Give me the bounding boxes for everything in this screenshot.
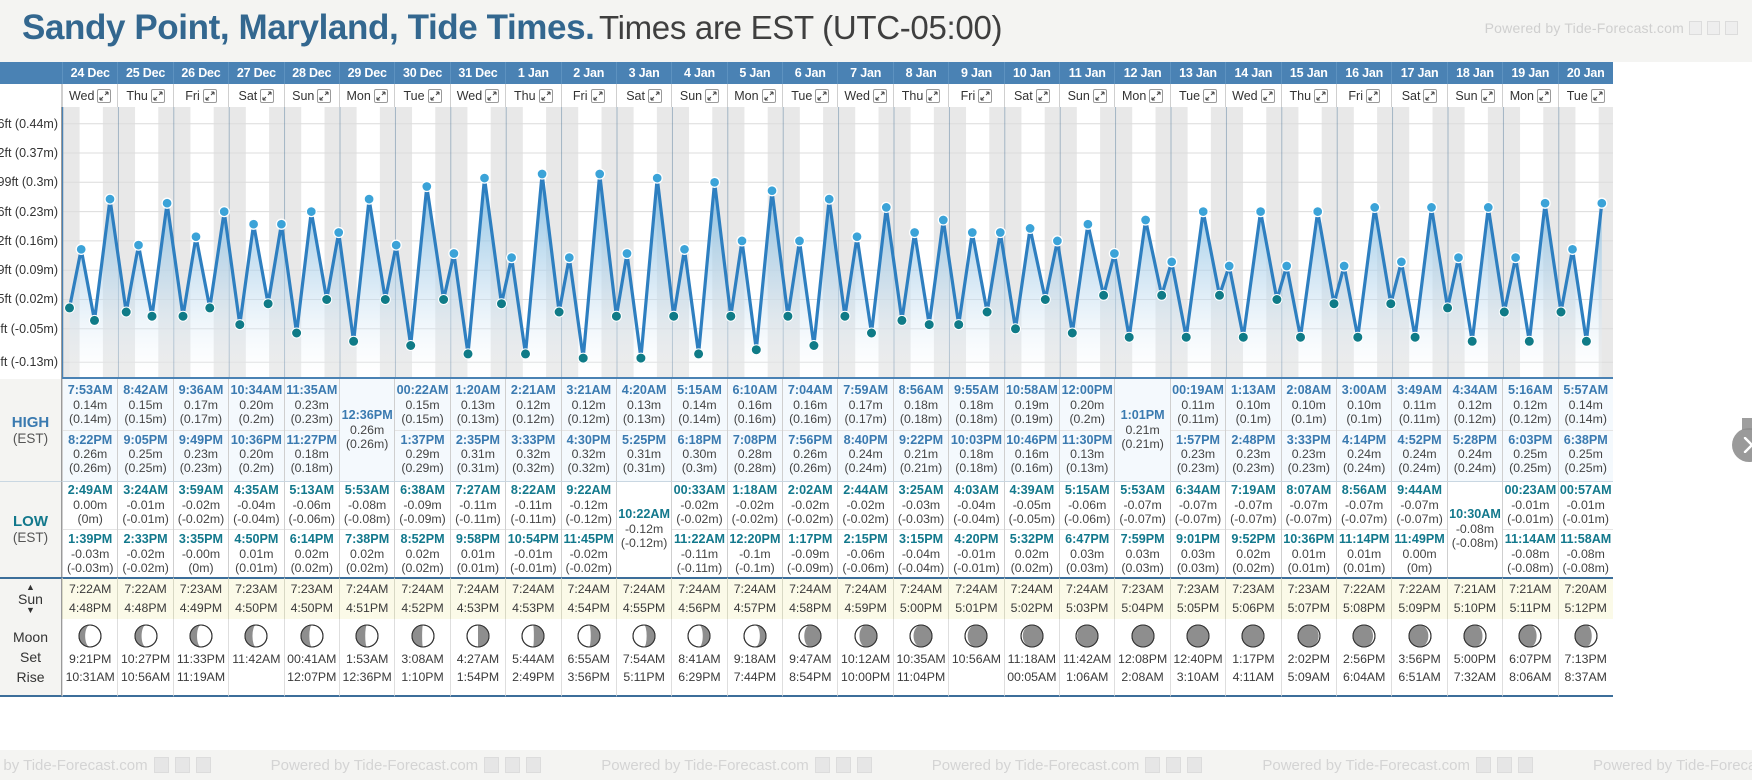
- tide-event: 4:50PM0.01m(0.01m): [229, 529, 283, 578]
- date-header[interactable]: 7 Jan: [837, 62, 892, 84]
- tide-time: 1:20AM: [451, 383, 505, 398]
- tide-height-alt: (0.18m): [894, 412, 948, 426]
- sunset-time: 5:07PM: [1288, 599, 1330, 618]
- y-axis-tick-label: 0.76ft (0.23m): [0, 205, 58, 219]
- sunset-time: 4:51PM: [346, 599, 388, 618]
- tide-height-alt: (-0.03m): [894, 512, 948, 526]
- tide-time: 5:13AM: [285, 483, 339, 498]
- moon-times: 9:47AM8:54PM: [789, 651, 831, 687]
- sunrise-time: 7:24AM: [789, 580, 831, 599]
- tide-height-alt: (-0.04m): [949, 512, 1003, 526]
- sunset-time: 4:52PM: [401, 599, 443, 618]
- expand-day-button[interactable]: [1261, 89, 1275, 103]
- moon-cell: 11:18AM00:05AM: [1004, 619, 1059, 697]
- tide-time: 4:50PM: [229, 532, 283, 547]
- tide-height: 0.00m: [63, 498, 117, 512]
- tide-height: -0.11m: [506, 498, 560, 512]
- expand-day-button[interactable]: [260, 89, 274, 103]
- tide-event: 7:59AM0.17m(0.17m): [838, 381, 892, 429]
- moonrise-time: 10:00PM: [841, 669, 890, 687]
- tide-time: 11:45PM: [562, 532, 616, 547]
- tide-event: 1:57PM0.23m(0.23m): [1171, 430, 1225, 479]
- weekday-label: Thu: [514, 89, 536, 103]
- tide-height-alt: (-0.09m): [395, 512, 449, 526]
- date-header[interactable]: 3 Jan: [616, 62, 671, 84]
- tide-height: 0.31m: [617, 447, 671, 461]
- tide-height: 0.23m: [174, 447, 228, 461]
- low-tide-cell: 6:38AM-0.09m(-0.09m)8:52PM0.02m(0.02m): [394, 481, 449, 577]
- moon-cell: 11:42AM1:06AM: [1059, 619, 1114, 697]
- tide-height: -0.03m: [894, 498, 948, 512]
- tide-time: 00:33AM: [672, 483, 726, 498]
- tide-event: 5:32PM0.02m(0.02m): [1005, 529, 1059, 578]
- sunrise-time: 7:24AM: [678, 580, 720, 599]
- sunrise-time: 7:24AM: [1011, 580, 1053, 599]
- tide-time: 00:22AM: [395, 383, 449, 398]
- tide-height: -0.01m: [506, 547, 560, 561]
- next-week-button[interactable]: [1732, 428, 1752, 462]
- y-axis-tick-label: 0.99ft (0.3m): [0, 175, 58, 189]
- moon-times: 6:55AM3:56PM: [568, 651, 610, 687]
- tide-height-alt: (-0.02m): [728, 512, 782, 526]
- tide-event: 7:08PM0.28m(0.28m): [728, 430, 782, 479]
- moonrise-time: 12:36PM: [343, 669, 392, 687]
- tide-event: 3:21AM0.12m(0.12m): [562, 381, 616, 429]
- expand-day-button[interactable]: [978, 89, 992, 103]
- date-header[interactable]: 15 Jan: [1281, 62, 1336, 84]
- tide-height: 0.24m: [1337, 447, 1391, 461]
- tide-time: 7:53AM: [63, 383, 117, 398]
- expand-day-button[interactable]: [1423, 89, 1437, 103]
- tide-height-alt: (-0.04m): [229, 512, 283, 526]
- low-label: LOW: [13, 513, 48, 530]
- tide-time: 3:49AM: [1392, 383, 1446, 398]
- tide-event: 7:19AM-0.07m(-0.07m): [1226, 481, 1280, 529]
- sunrise-time: 7:21AM: [1509, 580, 1551, 599]
- expand-day-button[interactable]: [815, 89, 829, 103]
- weekday-cell: Mon: [1502, 84, 1557, 107]
- date-header[interactable]: 1 Jan: [505, 62, 560, 84]
- tide-height: -0.04m: [229, 498, 283, 512]
- sunrise-time: 7:24AM: [900, 580, 942, 599]
- tide-event: 5:57AM0.14m(0.14m): [1559, 381, 1613, 429]
- high-tide-cell: 00:22AM0.15m(0.15m)1:37PM0.29m(0.29m): [394, 379, 449, 481]
- tide-height: 0.13m: [1060, 447, 1114, 461]
- tide-event: 6:34AM-0.07m(-0.07m): [1171, 481, 1225, 529]
- tide-height: 0.23m: [285, 398, 339, 412]
- date-header-label: 13 Jan: [1179, 66, 1217, 80]
- tide-time: 2:21AM: [506, 383, 560, 398]
- tide-height-alt: (0.18m): [285, 461, 339, 475]
- date-header[interactable]: 10 Jan: [1004, 62, 1059, 84]
- expand-day-button[interactable]: [762, 89, 776, 103]
- high-tide-cell: 1:20AM0.13m(0.13m)2:35PM0.31m(0.31m): [450, 379, 505, 481]
- tide-height-alt: (0m): [1392, 561, 1446, 575]
- tide-height: 0.11m: [1392, 398, 1446, 412]
- tide-height-alt: (-0.09m): [783, 561, 837, 575]
- expand-day-button[interactable]: [1203, 89, 1217, 103]
- tide-time: 3:33PM: [506, 433, 560, 448]
- low-tide-cell: 5:15AM-0.06m(-0.06m)6:47PM0.03m(0.03m): [1059, 481, 1114, 577]
- tide-height: -0.06m: [838, 547, 892, 561]
- tide-height: -0.02m: [672, 498, 726, 512]
- tide-time: 6:10AM: [728, 383, 782, 398]
- high-tide-cell: 5:15AM0.14m(0.14m)6:18PM0.30m(0.3m): [671, 379, 726, 481]
- sunset-time: 5:06PM: [1232, 599, 1274, 618]
- share-icon: [505, 757, 520, 773]
- tide-time: 4:14PM: [1337, 433, 1391, 448]
- low-tide-cell: 8:07AM-0.07m(-0.07m)10:36PM0.01m(0.01m): [1281, 481, 1336, 577]
- moon-cell: 11:42AM: [228, 619, 283, 697]
- tide-time: 12:20PM: [728, 532, 782, 547]
- tide-height: 0.20m: [229, 398, 283, 412]
- expand-day-button[interactable]: [539, 89, 553, 103]
- low-tide-cell: 1:18AM-0.02m(-0.02m)12:20PM-0.1m(-0.1m): [727, 481, 782, 577]
- high-tide-cell: 11:35AM0.23m(0.23m)11:27PM0.18m(0.18m): [284, 379, 339, 481]
- tide-time: 6:38AM: [395, 483, 449, 498]
- weekday-cell: Thu: [117, 84, 172, 107]
- moon-times: 7:13PM8:37AM: [1565, 651, 1607, 687]
- tide-time: 4:03AM: [949, 483, 1003, 498]
- y-axis-tick-label: 0.29ft (0.09m): [0, 263, 58, 277]
- tide-time: 12:00PM: [1060, 383, 1114, 398]
- date-header[interactable]: 8 Jan: [893, 62, 948, 84]
- moon-times: 5:44AM2:49PM: [512, 651, 554, 687]
- tide-event: 10:03PM0.18m(0.18m): [949, 430, 1003, 479]
- tide-height: 0.25m: [1559, 447, 1613, 461]
- sunset-time: 4:50PM: [235, 599, 277, 618]
- moon-phase-icon: [299, 623, 325, 649]
- tide-height-alt: (0.2m): [1060, 412, 1114, 426]
- tide-time: 00:23AM: [1503, 483, 1557, 498]
- expand-day-button[interactable]: [317, 89, 331, 103]
- high-tide-cell: 7:53AM0.14m(0.14m)8:22PM0.26m(0.26m): [62, 379, 117, 481]
- tide-height-alt: (0.15m): [395, 412, 449, 426]
- tide-height-alt: (-0.08m): [1503, 561, 1557, 575]
- tide-time: 11:22AM: [672, 532, 726, 547]
- tide-height: -0.03m: [63, 547, 117, 561]
- moon-phase-icon: [1462, 623, 1488, 649]
- tide-time: 9:36AM: [174, 383, 228, 398]
- moon-phase-icon: [631, 623, 657, 649]
- moonrise-time: 1:10PM: [401, 669, 443, 687]
- tide-event: 7:38PM0.02m(0.02m): [340, 529, 394, 578]
- date-header[interactable]: 26 Dec: [173, 62, 228, 84]
- tide-height: 0.20m: [1060, 398, 1114, 412]
- moon-cell: 4:27AM1:54PM: [450, 619, 505, 697]
- expand-day-button[interactable]: [374, 89, 388, 103]
- download-icon: [526, 757, 541, 773]
- moon-phase-icon: [1185, 623, 1211, 649]
- high-tide-cell: 9:55AM0.18m(0.18m)10:03PM0.18m(0.18m): [948, 379, 1003, 481]
- high-tide-cell: 2:21AM0.12m(0.12m)3:33PM0.32m(0.32m): [505, 379, 560, 481]
- date-header[interactable]: 13 Jan: [1170, 62, 1225, 84]
- low-tide-cell: 4:35AM-0.04m(-0.04m)4:50PM0.01m(0.01m): [228, 481, 283, 577]
- tide-table-frame: 24 Dec25 Dec26 Dec27 Dec28 Dec29 Dec30 D…: [0, 62, 1752, 780]
- date-header[interactable]: 27 Dec: [228, 62, 283, 84]
- tide-time: 4:30PM: [562, 433, 616, 448]
- date-header[interactable]: 14 Jan: [1225, 62, 1280, 84]
- date-header[interactable]: 12 Jan: [1114, 62, 1169, 84]
- sunrise-time: 7:23AM: [1232, 580, 1274, 599]
- tide-height: -0.06m: [285, 498, 339, 512]
- sun-cell: 7:24AM4:53PM: [450, 577, 505, 619]
- expand-day-button[interactable]: [1481, 89, 1495, 103]
- high-tide-cell: 12:00PM0.20m(0.2m)11:30PM0.13m(0.13m): [1059, 379, 1114, 481]
- moonrise-time: 2:08AM: [1121, 669, 1163, 687]
- tide-event: 5:15AM-0.06m(-0.06m): [1060, 481, 1114, 529]
- weekday-label: Wed: [69, 89, 94, 103]
- moonrise-time: 4:11AM: [1233, 669, 1274, 687]
- moon-cell: 2:02PM5:09AM: [1281, 619, 1336, 697]
- tide-time: 6:14PM: [285, 532, 339, 547]
- tide-time: 4:34AM: [1448, 383, 1502, 398]
- download-icon: [1187, 757, 1202, 773]
- expand-day-button[interactable]: [1093, 89, 1107, 103]
- moon-cell: 10:35AM11:04PM: [893, 619, 948, 697]
- tide-height: 0.31m: [451, 447, 505, 461]
- sunrise-time: 7:24AM: [457, 580, 499, 599]
- tide-event: 2:15PM-0.06m(-0.06m): [838, 529, 892, 578]
- tide-time: 7:04AM: [783, 383, 837, 398]
- weekday-label: Sun: [1455, 89, 1477, 103]
- date-header[interactable]: 11 Jan: [1059, 62, 1114, 84]
- tide-height-alt: (0.01m): [451, 561, 505, 575]
- tide-height: -0.01m: [118, 498, 172, 512]
- high-tide-cell: 7:59AM0.17m(0.17m)8:40PM0.24m(0.24m): [837, 379, 892, 481]
- date-header[interactable]: 28 Dec: [284, 62, 339, 84]
- tide-height: 0.11m: [1171, 398, 1225, 412]
- expand-day-button[interactable]: [591, 89, 605, 103]
- expand-day-button[interactable]: [428, 89, 442, 103]
- tide-height-alt: (-0.02m): [838, 512, 892, 526]
- moonset-time: 9:18AM: [734, 651, 776, 669]
- moon-times: 1:17PM4:11AM: [1232, 651, 1274, 687]
- moonrise-time: 3:56PM: [568, 669, 610, 687]
- tide-height-alt: (0m): [174, 561, 228, 575]
- tide-height-alt: (0.23m): [1282, 461, 1336, 475]
- tide-height-alt: (-0.06m): [1060, 512, 1114, 526]
- date-header[interactable]: 9 Jan: [948, 62, 1003, 84]
- tide-time: 5:32PM: [1005, 532, 1059, 547]
- tide-height: -0.08m: [1448, 522, 1502, 536]
- moon-phase-icon: [1573, 623, 1599, 649]
- tide-time: 5:53AM: [340, 483, 394, 498]
- tide-height-alt: (0.25m): [1559, 461, 1613, 475]
- moonset-time: 11:42AM: [1063, 651, 1111, 669]
- expand-day-button[interactable]: [648, 89, 662, 103]
- expand-day-button[interactable]: [926, 89, 940, 103]
- expand-day-button[interactable]: [97, 89, 111, 103]
- weekday-label: Mon: [1122, 89, 1146, 103]
- tide-height: 0.12m: [506, 398, 560, 412]
- moon-phase-icon: [797, 623, 823, 649]
- date-header[interactable]: 4 Jan: [671, 62, 726, 84]
- tide-event: 5:53AM-0.07m(-0.07m): [1115, 481, 1169, 529]
- watermark-strip: Powered by Tide-Forecast.comPowered by T…: [0, 750, 1752, 780]
- tide-time: 1:57PM: [1171, 433, 1225, 448]
- tide-height: 0.02m: [395, 547, 449, 561]
- watermark-text: Powered by Tide-Forecast.com: [601, 757, 809, 774]
- tide-event: 4:39AM-0.05m(-0.05m): [1005, 481, 1059, 529]
- sun-cell: 7:24AM4:59PM: [837, 577, 892, 619]
- high-tide-cell: 00:19AM0.11m(0.11m)1:57PM0.23m(0.23m): [1170, 379, 1225, 481]
- moon-times: 6:07PM8:06AM: [1509, 651, 1551, 687]
- sunrise-time: 7:23AM: [291, 580, 333, 599]
- tide-height: 0.23m: [1226, 447, 1280, 461]
- tide-height-alt: (-0.12m): [562, 512, 616, 526]
- date-header[interactable]: 6 Jan: [782, 62, 837, 84]
- tide-height-alt: (-0.08m): [1559, 561, 1613, 575]
- tide-height-alt: (-0.12m): [617, 536, 671, 550]
- tide-event: 11:35AM0.23m(0.23m): [285, 381, 339, 429]
- tide-height-alt: (0.13m): [617, 412, 671, 426]
- tide-height-alt: (0.14m): [1559, 412, 1613, 426]
- date-header[interactable]: 29 Dec: [339, 62, 394, 84]
- expand-day-button[interactable]: [1591, 89, 1605, 103]
- chart-y-axis: 1.46ft (0.44m)1.22ft (0.37m)0.99ft (0.3m…: [0, 107, 62, 379]
- sun-cell: 7:23AM5:04PM: [1114, 577, 1169, 619]
- weekday-cell: Sun: [284, 84, 339, 107]
- high-tide-cell: 9:36AM0.17m(0.17m)9:49PM0.23m(0.23m): [173, 379, 228, 481]
- tide-event: 8:52PM0.02m(0.02m): [395, 529, 449, 578]
- low-tide-cell: 10:30AM-0.08m(-0.08m): [1447, 481, 1502, 577]
- moon-cell: 8:41AM6:29PM: [671, 619, 726, 697]
- tide-height-alt: (-0.07m): [1226, 512, 1280, 526]
- expand-day-button[interactable]: [1537, 89, 1551, 103]
- tide-event: 1:37PM0.29m(0.29m): [395, 430, 449, 479]
- date-header[interactable]: 25 Dec: [117, 62, 172, 84]
- moonrise-time: 11:04PM: [897, 669, 945, 687]
- expand-day-button[interactable]: [1366, 89, 1380, 103]
- tide-event: 8:07AM-0.07m(-0.07m): [1282, 481, 1336, 529]
- expand-day-button[interactable]: [203, 89, 217, 103]
- date-header[interactable]: 20 Jan: [1558, 62, 1613, 84]
- sun-cell: 7:24AM4:56PM: [671, 577, 726, 619]
- tide-height: -0.00m: [174, 547, 228, 561]
- tide-height: 0.12m: [562, 398, 616, 412]
- moonset-time: 3:08AM: [401, 651, 443, 669]
- date-header[interactable]: 17 Jan: [1391, 62, 1446, 84]
- date-header[interactable]: 24 Dec: [62, 62, 117, 84]
- tide-time: 7:08PM: [728, 433, 782, 448]
- low-tide-cell: 4:39AM-0.05m(-0.05m)5:32PM0.02m(0.02m): [1004, 481, 1059, 577]
- tide-height-alt: (0.3m): [672, 461, 726, 475]
- sunset-time: 4:54PM: [568, 599, 610, 618]
- moon-phase-icon: [133, 623, 159, 649]
- tide-height-alt: (0.13m): [451, 412, 505, 426]
- expand-day-button[interactable]: [873, 89, 887, 103]
- tide-time: 4:35AM: [229, 483, 283, 498]
- tide-height-alt: (-0.07m): [1282, 512, 1336, 526]
- tide-event: 11:58AM-0.08m(-0.08m): [1559, 529, 1613, 578]
- tide-height-alt: (0.14m): [672, 412, 726, 426]
- weekday-cell: Mon: [727, 84, 782, 107]
- tide-height-alt: (-0.05m): [1005, 512, 1059, 526]
- tide-time: 10:30AM: [1448, 507, 1502, 522]
- date-header[interactable]: 30 Dec: [394, 62, 449, 84]
- expand-day-button[interactable]: [1314, 89, 1328, 103]
- watermark-item: Powered by Tide-Forecast.com: [601, 757, 872, 774]
- tide-height: 0.25m: [118, 447, 172, 461]
- sunset-time: 5:02PM: [1011, 599, 1053, 618]
- tide-event: 1:01PM0.21m(0.21m): [1115, 406, 1169, 454]
- weekday-cell: Sat: [228, 84, 283, 107]
- moon-cell: 12:40PM3:10AM: [1170, 619, 1225, 697]
- watermark-item: Powered by Tide-Forecast.com: [932, 757, 1203, 774]
- tide-height: 0.16m: [1005, 447, 1059, 461]
- tide-event: 5:16AM0.12m(0.12m): [1503, 381, 1557, 429]
- weekday-cell: Mon: [339, 84, 394, 107]
- date-header[interactable]: 2 Jan: [561, 62, 616, 84]
- share-icon: [175, 757, 190, 773]
- date-header-label: 7 Jan: [850, 66, 881, 80]
- expand-day-button[interactable]: [485, 89, 499, 103]
- tide-height: 0.01m: [1337, 547, 1391, 561]
- low-tide-cell: 3:25AM-0.03m(-0.03m)3:15PM-0.04m(-0.04m): [893, 481, 948, 577]
- moonrise-time: 7:32AM: [1454, 669, 1496, 687]
- date-header-label: 16 Jan: [1345, 66, 1383, 80]
- y-axis-tick-label: 1.22ft (0.37m): [0, 146, 58, 160]
- tide-time: 3:00AM: [1337, 383, 1391, 398]
- sunset-time: 4:50PM: [291, 599, 333, 618]
- tide-height: -0.08m: [1503, 547, 1557, 561]
- weekday-label: Fri: [185, 89, 200, 103]
- tide-height: -0.06m: [1060, 498, 1114, 512]
- date-header-label: 30 Dec: [403, 66, 442, 80]
- expand-day-button[interactable]: [1036, 89, 1050, 103]
- expand-day-button[interactable]: [1149, 89, 1163, 103]
- tide-time: 8:40PM: [838, 433, 892, 448]
- tide-time: 3:25AM: [894, 483, 948, 498]
- moonrise-time: 6:29PM: [678, 669, 720, 687]
- chevron-right-icon: [1743, 437, 1752, 453]
- moonrise-time: 6:51AM: [1398, 669, 1440, 687]
- expand-day-button[interactable]: [705, 89, 719, 103]
- high-tide-cell: 3:49AM0.11m(0.11m)4:52PM0.24m(0.24m): [1391, 379, 1446, 481]
- date-header[interactable]: 18 Jan: [1447, 62, 1502, 84]
- low-tz-label: (EST): [13, 530, 48, 546]
- weekday-cell: Wed: [62, 84, 117, 107]
- tide-height-alt: (0.24m): [1392, 461, 1446, 475]
- moon-cell: 5:00PM7:32AM: [1447, 619, 1502, 697]
- moonset-time: 9:21PM: [69, 651, 111, 669]
- tide-height-alt: (-0.07m): [1115, 512, 1169, 526]
- moon-cell: 3:56PM6:51AM: [1391, 619, 1446, 697]
- date-header[interactable]: 16 Jan: [1336, 62, 1391, 84]
- tide-event: 2:08AM0.10m(0.1m): [1282, 381, 1336, 429]
- moonrise-time: 11:19AM: [177, 669, 225, 687]
- date-header-label: 29 Dec: [348, 66, 387, 80]
- date-header[interactable]: 5 Jan: [727, 62, 782, 84]
- tide-time: 7:38PM: [340, 532, 394, 547]
- date-header[interactable]: 19 Jan: [1502, 62, 1557, 84]
- moon-cell: 10:12AM10:00PM: [837, 619, 892, 697]
- moon-times: 12:08PM2:08AM: [1118, 651, 1167, 687]
- tide-height-alt: (0.31m): [451, 461, 505, 475]
- expand-day-button[interactable]: [151, 89, 165, 103]
- high-tide-cell: 10:58AM0.19m(0.19m)10:46PM0.16m(0.16m): [1004, 379, 1059, 481]
- tide-height: 0.13m: [617, 398, 671, 412]
- date-header[interactable]: 31 Dec: [450, 62, 505, 84]
- tide-time: 4:20AM: [617, 383, 671, 398]
- tide-height-alt: (-0.07m): [1392, 512, 1446, 526]
- tide-event: 2:49AM0.00m(0m): [63, 481, 117, 529]
- share-icon: [1707, 21, 1720, 35]
- tide-height: 0.21m: [894, 447, 948, 461]
- moon-phase-icon: [188, 623, 214, 649]
- sun-cell: 7:21AM5:10PM: [1447, 577, 1502, 619]
